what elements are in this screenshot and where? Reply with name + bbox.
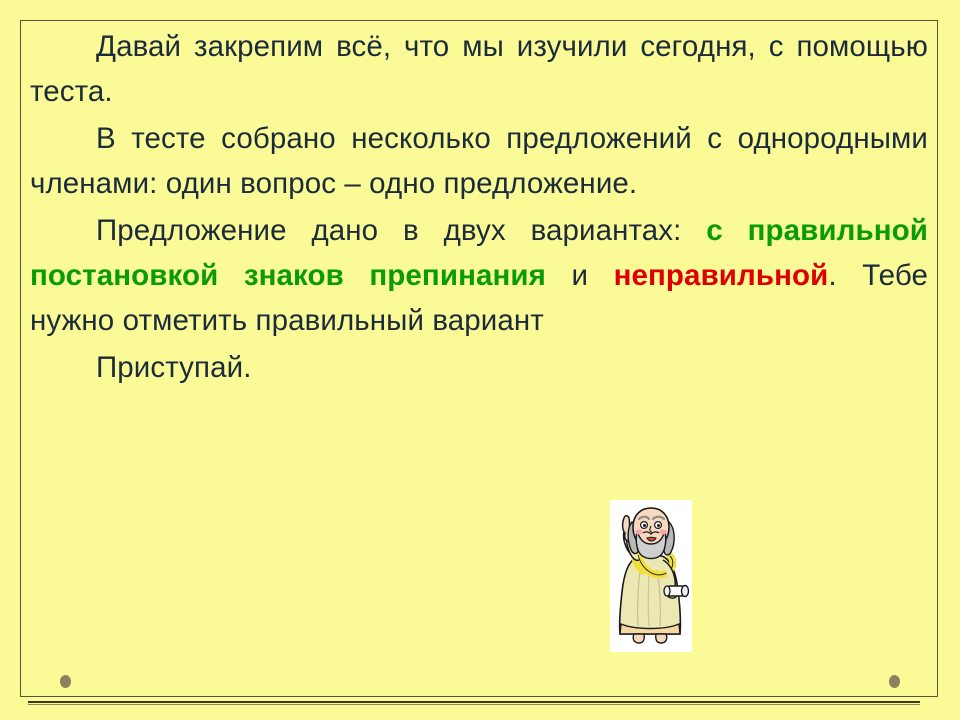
- foot-left: [633, 634, 644, 643]
- decorative-dot-right: [889, 675, 900, 688]
- cheek-left: [635, 529, 642, 534]
- paragraph-intro: Давай закрепим всё, что мы изучили сегод…: [30, 24, 928, 114]
- cheek-right: [659, 529, 666, 534]
- slide-text-body: Давай закрепим всё, что мы изучили сегод…: [30, 24, 928, 392]
- foot-right: [656, 634, 667, 643]
- philosopher-illustration: [610, 500, 692, 652]
- paragraph-closing: Приступай.: [30, 345, 928, 390]
- baseline-double-rule: [28, 701, 920, 705]
- pupil-right: [657, 524, 660, 527]
- instructions-lead: Предложение дано в двух вариантах:: [96, 214, 706, 247]
- rule-line-bottom: [28, 704, 920, 705]
- pupil-left: [643, 524, 646, 527]
- instructions-middle: и: [546, 259, 614, 292]
- paragraph-test-description: В тесте собрано несколько предложений с …: [30, 116, 928, 206]
- scroll-end-right: [682, 586, 689, 597]
- paragraph-instructions: Предложение дано в двух вариантах: с пра…: [30, 208, 928, 343]
- decorative-dot-left: [60, 675, 71, 688]
- slide-canvas: Давай закрепим всё, что мы изучили сегод…: [0, 0, 960, 720]
- rule-line-top: [28, 701, 920, 703]
- scroll-end-left: [664, 586, 670, 596]
- instructions-incorrect-phrase: неправильной: [614, 259, 829, 292]
- mouth: [647, 537, 656, 541]
